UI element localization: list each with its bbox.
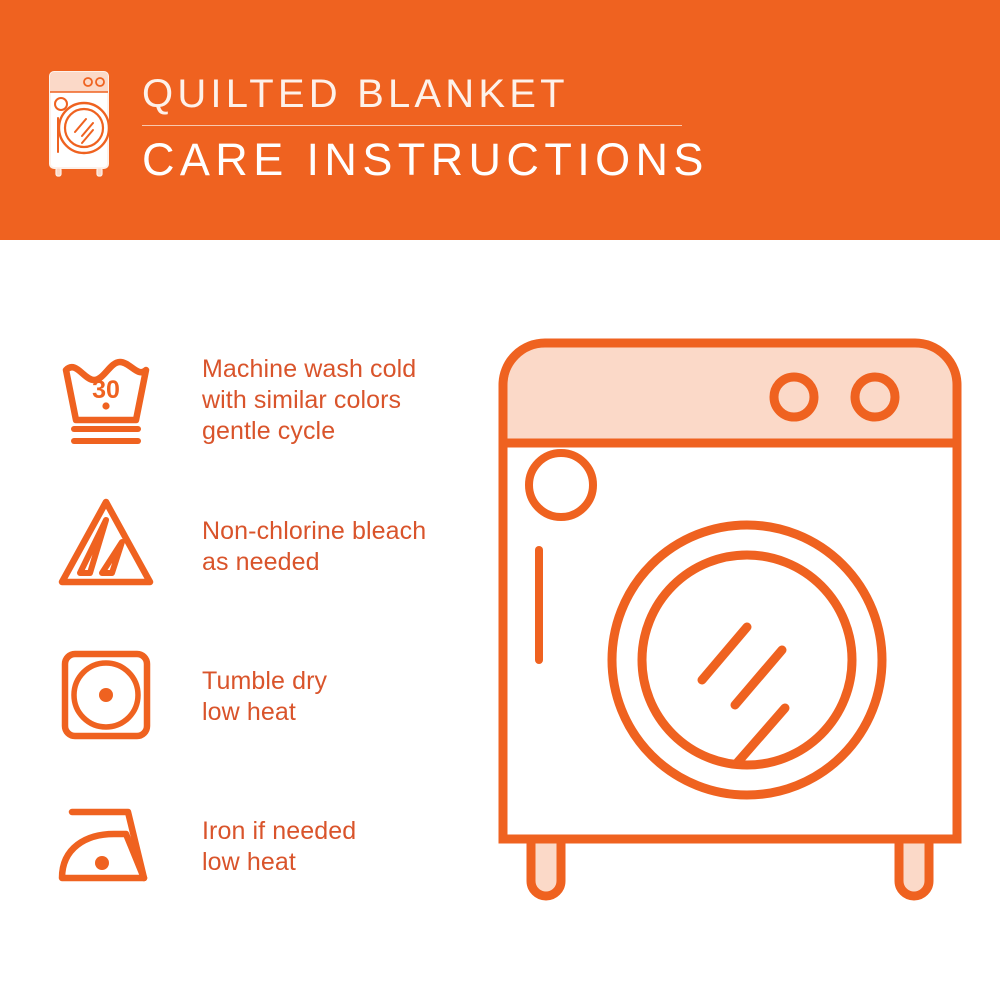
care-row-bleach: Non-chlorine bleach as needed bbox=[52, 490, 472, 640]
care-instructions-page: QUILTED BLANKET CARE INSTRUCTIONS 30 bbox=[0, 0, 1000, 1000]
wash-temperature-label: 30 bbox=[92, 376, 120, 404]
care-text-tumble-dry: Tumble dry low heat bbox=[202, 666, 327, 728]
washing-machine-icon bbox=[44, 66, 116, 178]
care-row-machine-wash: 30 Machine wash cold with similar colors… bbox=[52, 340, 472, 490]
care-text-machine-wash: Machine wash cold with similar colors ge… bbox=[202, 354, 416, 447]
tumble-dry-icon bbox=[52, 640, 160, 748]
header-banner: QUILTED BLANKET CARE INSTRUCTIONS bbox=[0, 0, 1000, 240]
care-row-tumble-dry: Tumble dry low heat bbox=[52, 640, 472, 790]
care-row-iron: Iron if needed low heat bbox=[52, 790, 472, 940]
title-divider bbox=[142, 125, 682, 126]
page-title: QUILTED BLANKET bbox=[142, 68, 742, 120]
non-chlorine-bleach-icon bbox=[52, 490, 160, 598]
washing-machine-illustration bbox=[495, 335, 965, 935]
machine-wash-icon: 30 bbox=[52, 340, 160, 448]
header-title-block: QUILTED BLANKET CARE INSTRUCTIONS bbox=[142, 68, 742, 188]
control-panel bbox=[503, 343, 957, 443]
page-subtitle: CARE INSTRUCTIONS bbox=[142, 132, 742, 188]
care-instruction-list: 30 Machine wash cold with similar colors… bbox=[52, 340, 472, 940]
care-text-iron: Iron if needed low heat bbox=[202, 816, 356, 878]
care-text-bleach: Non-chlorine bleach as needed bbox=[202, 516, 426, 578]
leg-left bbox=[531, 839, 561, 896]
leg-right bbox=[899, 839, 929, 896]
iron-icon bbox=[52, 790, 160, 898]
